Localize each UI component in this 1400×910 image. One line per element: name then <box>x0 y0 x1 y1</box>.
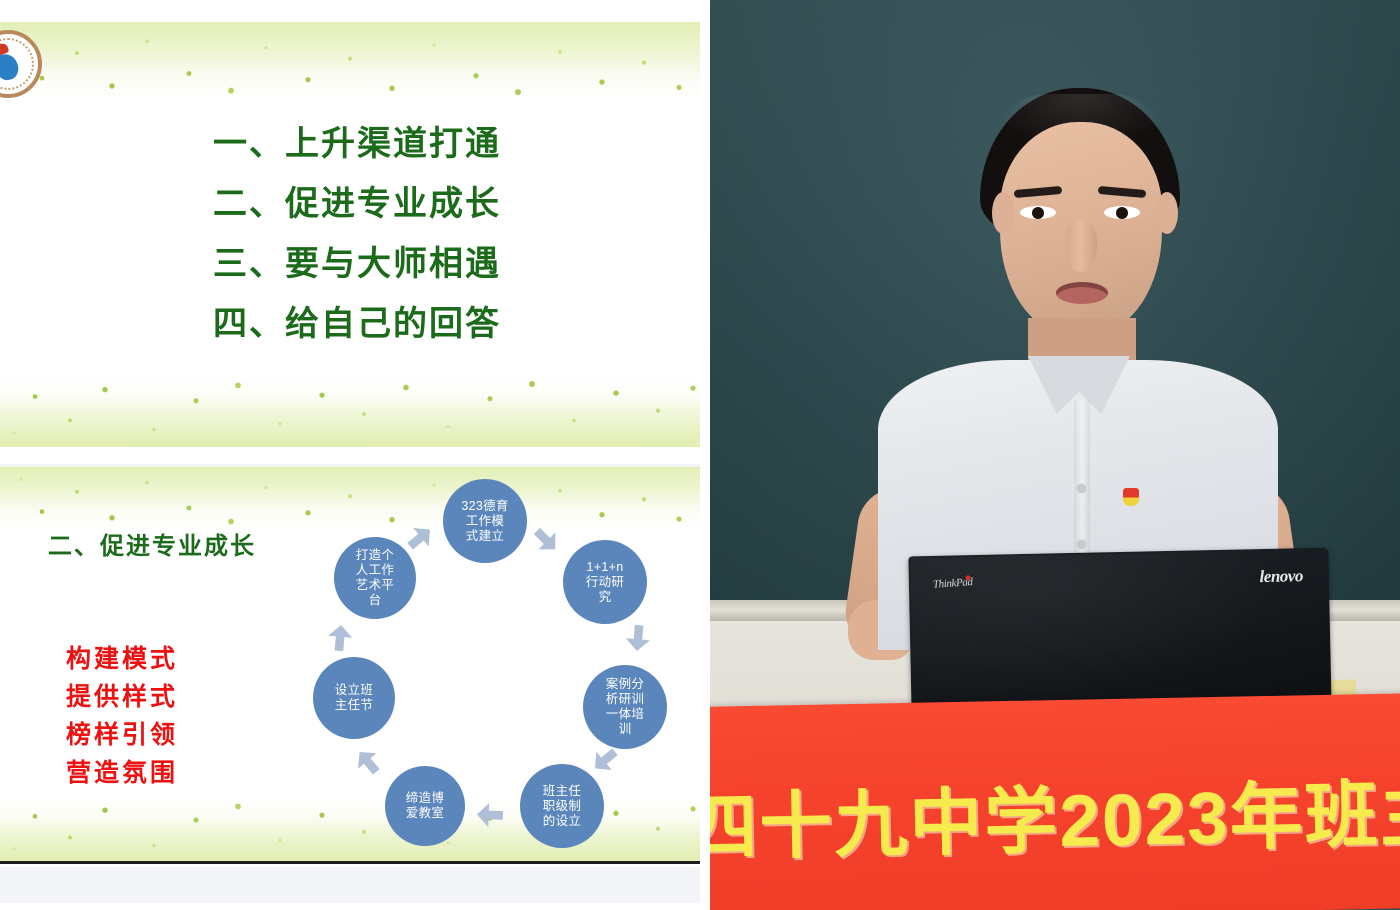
keyword-3: 榜样引领 <box>66 716 178 754</box>
agenda-item-4: 四、给自己的回答 <box>0 294 700 354</box>
speaker-mouth <box>1056 282 1108 304</box>
cycle-arrow-2-to-3 <box>625 624 651 652</box>
cycle-node-1: 323德育 工作模 式建立 <box>443 479 527 563</box>
speaker-nose <box>1065 220 1097 272</box>
agenda-item-3: 三、要与大师相遇 <box>0 234 700 294</box>
speaker-eye-right <box>1104 206 1140 219</box>
agenda-list: 一、上升渠道打通 二、促进专业成长 三、要与大师相遇 四、给自己的回答 <box>0 114 700 354</box>
cycle-node-4: 班主任 职级制 的设立 <box>520 764 604 848</box>
chinese-flag-pin-icon <box>1123 488 1139 506</box>
keyword-list: 构建模式 提供样式 榜样引领 营造氛围 <box>66 640 178 792</box>
speaker-ear-right <box>1156 192 1178 234</box>
slide-footer-strip <box>0 867 700 903</box>
pupil-right <box>1116 207 1128 219</box>
agenda-item-2: 二、促进专业成长 <box>0 174 700 234</box>
slide-agenda[interactable]: · 一、上升渠道打通 二、促进专业成长 三、要与大师相遇 四、给自己的回答 <box>0 22 700 447</box>
pupil-left <box>1032 207 1044 219</box>
laptop-lid: ThinkPad lenovo <box>908 548 1331 719</box>
banner-text: 四十九中学2023年班主任工作 <box>710 750 1400 875</box>
slide2-heading: 二、促进专业成长 <box>48 526 256 561</box>
cycle-node-7: 打造个 人工作 艺术平 台 <box>334 537 416 619</box>
cycle-node-5: 缔造博 爱教室 <box>385 766 465 846</box>
slides-column: · 一、上升渠道打通 二、促进专业成长 三、要与大师相遇 四、给自己的回答 二、… <box>0 0 700 910</box>
cycle-arrow-6-to-7 <box>327 624 353 652</box>
agenda-item-1: 一、上升渠道打通 <box>0 114 700 174</box>
slide-texture-top <box>0 22 700 100</box>
slide-texture-bottom <box>0 377 700 447</box>
lenovo-logo: lenovo <box>1259 566 1303 587</box>
cycle-node-6: 设立班 主任节 <box>313 657 395 739</box>
cycle-arrow-4-to-5 <box>477 803 504 828</box>
keyword-4: 营造氛围 <box>66 754 178 792</box>
thinkpad-red-dot-icon <box>965 575 970 580</box>
emblem-text: · <box>0 81 1 90</box>
event-banner: 四十九中学2023年班主任工作 <box>710 693 1400 910</box>
speaker-eye-left <box>1020 206 1056 219</box>
speaker-ear-left <box>992 192 1014 234</box>
keyword-2: 提供样式 <box>66 678 178 716</box>
slide-top-strip <box>0 464 700 469</box>
shirt-button-2 <box>1077 540 1086 549</box>
speaker-video-feed[interactable]: ThinkPad lenovo 四十九中学2023年班主任工作 <box>710 0 1400 910</box>
school-emblem-icon: · <box>0 30 42 98</box>
cycle-arrow-1-to-2 <box>528 522 563 557</box>
cycle-arrow-5-to-6 <box>350 744 385 779</box>
keyword-1: 构建模式 <box>66 640 178 678</box>
speaker-person <box>860 70 1290 630</box>
shirt-button-1 <box>1077 484 1086 493</box>
cycle-node-2: 1+1+n 行动研 究 <box>563 540 647 624</box>
cycle-node-3: 案例分 析研训 一体培 训 <box>583 665 667 749</box>
screen-root: · 一、上升渠道打通 二、促进专业成长 三、要与大师相遇 四、给自己的回答 二、… <box>0 0 1400 910</box>
cycle-arrow-7-to-1 <box>402 520 437 555</box>
thinkpad-logo: ThinkPad <box>933 576 973 591</box>
cycle-diagram: 323德育 工作模 式建立1+1+n 行动研 究案例分 析研训 一体培 训班主任… <box>300 470 700 860</box>
